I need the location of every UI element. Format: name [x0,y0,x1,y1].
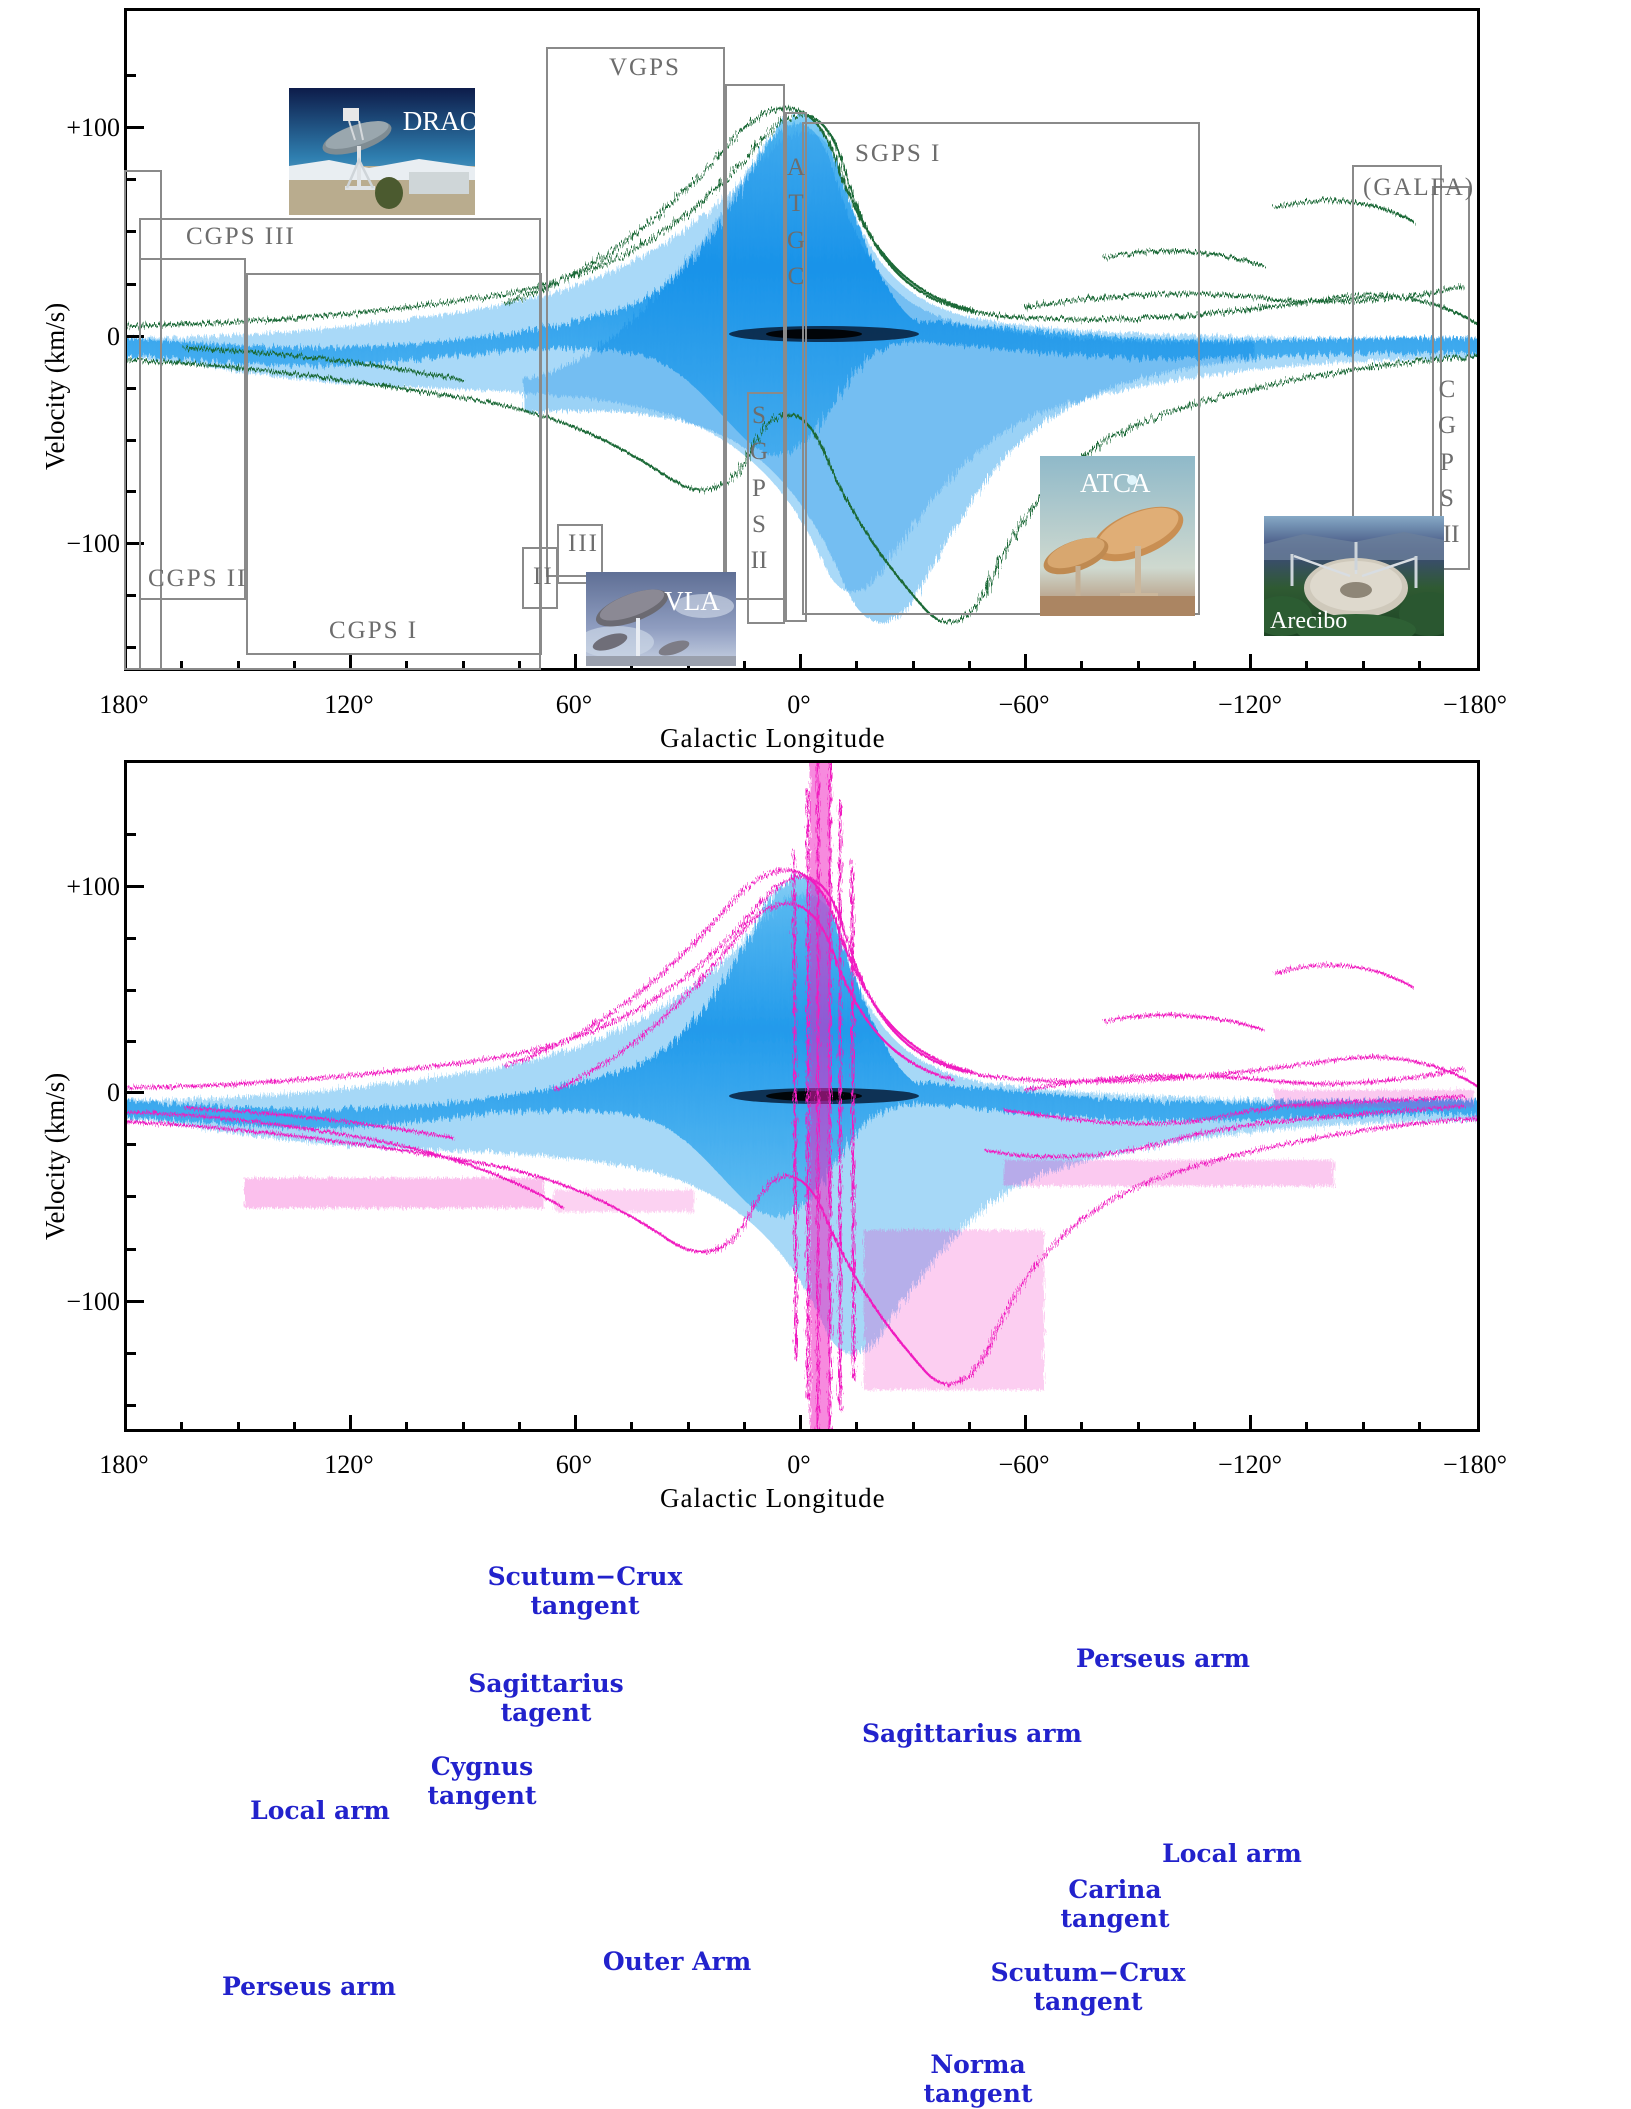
bottom-xtick-major-m60 [1024,1415,1027,1432]
top-xtick-minor-16 [1305,661,1308,671]
survey-label-cgps-ii: CGPS II [148,565,247,593]
survey-label-sgps-ii: SGPSII [746,398,772,579]
annotation-perseus-arm-right: Perseus arm [1068,1645,1258,1674]
inset-drao: DRAO [289,88,475,215]
top-xtick-major-m120 [1249,654,1252,671]
bottom-panel-x-axis-title: Galactic Longitude [660,1483,886,1514]
bottom-x-tick-0: 0° [741,1450,857,1480]
survey-label-vgps: VGPS [609,54,681,82]
bottom-xtick-minor-17 [1362,1422,1365,1432]
bottom-xtick-minor-9 [743,1422,746,1432]
top-xtick-major-m60 [1024,654,1027,671]
bottom-ytick-minor-8 [124,1352,136,1355]
survey-label-cgps-iii: CGPS III [186,223,296,251]
annotation-local-arm-right: Local arm [1148,1840,1316,1869]
bottom-xtick-minor-12 [968,1422,971,1432]
survey-box-galfa[interactable] [1352,165,1442,565]
annotation-sagittarius-arm: Sagittarius arm [862,1720,1078,1749]
bottom-ytick-minor-9 [124,1404,136,1407]
annotation-scutum-crux-tangent-lower: Scutum−Crux tangent [978,1959,1198,2017]
bottom-panel: Velocity (km/s) +100 0 −100 180° 120° 60… [0,745,1631,1561]
bottom-xtick-minor-16 [1305,1422,1308,1432]
bottom-xtick-minor-14 [1137,1422,1140,1432]
bottom-xtick-major-m180 [1477,1415,1480,1432]
bottom-xtick-minor-5 [462,1422,465,1432]
inset-vla: VLA [586,572,736,666]
bottom-y-tick-m100: −100 [28,1287,120,1317]
bottom-x-tick-60: 60° [516,1450,632,1480]
top-xtick-major-60 [574,654,577,671]
bottom-y-tick-100: +100 [28,872,120,902]
bottom-xtick-minor-4 [405,1422,408,1432]
bottom-xtick-minor-2 [237,1422,240,1432]
bottom-xtick-minor-6 [518,1422,521,1432]
bottom-xtick-minor-3 [293,1422,296,1432]
top-xtick-major-m180 [1477,654,1480,671]
top-xtick-minor-13 [1080,661,1083,671]
inset-caption-drao: DRAO [403,106,475,136]
bottom-ytick-minor-1 [124,833,136,836]
bottom-ytick-minor-3 [124,989,136,992]
bottom-xtick-minor-18 [1418,1422,1421,1432]
top-xtick-minor-10 [855,661,858,671]
top-x-tick-180: 180° [66,690,182,720]
inset-atca: ATCA [1040,456,1195,616]
top-ytick-major-p100 [124,126,144,129]
top-xtick-minor-15 [1193,661,1196,671]
survey-box-cgps-ii[interactable] [139,258,246,600]
annotation-norma-tangent: Norma tangent [900,2051,1056,2109]
top-xtick-major-0 [799,654,802,671]
bottom-x-tick-180: 180° [66,1450,182,1480]
bottom-ytick-minor-7 [124,1248,136,1251]
bottom-ytick-major-m100 [124,1300,144,1303]
bottom-xtick-major-m120 [1249,1415,1252,1432]
annotation-perseus-arm-left: Perseus arm [214,1973,404,2002]
survey-box-cgps-i[interactable] [246,273,542,655]
bottom-xtick-minor-11 [912,1422,915,1432]
inset-caption-vla: VLA [664,586,720,616]
survey-box-vgps[interactable] [546,47,725,577]
bottom-ytick-major-0 [124,1091,144,1094]
survey-label-cgps-i: CGPS I [329,617,418,645]
bottom-xtick-major-60 [574,1415,577,1432]
inset-arecibo: Arecibo [1264,516,1444,636]
bottom-xtick-major-0 [799,1415,802,1432]
bottom-ytick-minor-2 [124,937,136,940]
top-panel: Velocity (km/s) +100 0 −100 180° 120° 60… [0,0,1631,745]
top-x-tick-120: 120° [291,690,407,720]
top-y-tick-100: +100 [28,113,120,143]
top-x-tick-m120: −120° [1176,690,1324,720]
top-xtick-minor-11 [912,661,915,671]
bottom-ytick-major-p100 [124,885,144,888]
top-x-tick-m180: −180° [1401,690,1549,720]
top-xtick-minor-18 [1418,661,1421,671]
annotation-cygnus-tangent: Cygnus tangent [402,1753,562,1811]
bottom-xtick-minor-15 [1193,1422,1196,1432]
bottom-panel-frame [124,760,1480,1432]
annotation-outer-arm: Outer Arm [598,1948,756,1977]
bottom-ytick-minor-6 [124,1195,136,1198]
bottom-x-tick-m60: −60° [958,1450,1090,1480]
bottom-xtick-minor-1 [180,1422,183,1432]
survey-label-galfa: (GALFA) [1363,174,1475,202]
top-y-tick-0: 0 [28,322,120,352]
annotation-local-arm-left: Local arm [236,1797,404,1826]
bottom-xtick-minor-8 [687,1422,690,1432]
survey-label-vgps-ii: II [533,563,554,591]
annotation-sagittarius-tangent: Sagittarius tagent [440,1670,652,1728]
bottom-y-tick-0: 0 [28,1078,120,1108]
survey-label-atgc: ATGC [783,150,809,295]
bottom-ytick-minor-4 [124,1040,136,1043]
bottom-x-tick-120: 120° [291,1450,407,1480]
bottom-xtick-minor-13 [1080,1422,1083,1432]
annotation-carina-tangent: Carina tangent [1032,1876,1198,1934]
bottom-ytick-minor-5 [124,1143,136,1146]
top-xtick-minor-17 [1362,661,1365,671]
bottom-x-tick-m180: −180° [1401,1450,1549,1480]
bottom-xtick-major-120 [349,1415,352,1432]
top-xtick-minor-9 [743,661,746,671]
top-y-tick-m100: −100 [28,529,120,559]
top-xtick-minor-14 [1137,661,1140,671]
top-x-tick-60: 60° [516,690,632,720]
inset-caption-arecibo: Arecibo [1270,608,1347,634]
survey-label-vgps-iii: III [568,530,599,558]
survey-label-sgps-i: SGPS I [855,140,941,168]
top-ytick-minor-1 [124,74,136,77]
top-x-tick-0: 0° [741,690,857,720]
inset-caption-atca: ATCA [1080,468,1151,498]
annotation-scutum-crux-tangent-upper: Scutum−Crux tangent [468,1563,702,1621]
bottom-xtick-major-180 [124,1415,127,1432]
top-x-tick-m60: −60° [958,690,1090,720]
bottom-x-tick-m120: −120° [1176,1450,1324,1480]
top-xtick-minor-12 [968,661,971,671]
bottom-xtick-minor-10 [855,1422,858,1432]
bottom-xtick-minor-7 [630,1422,633,1432]
